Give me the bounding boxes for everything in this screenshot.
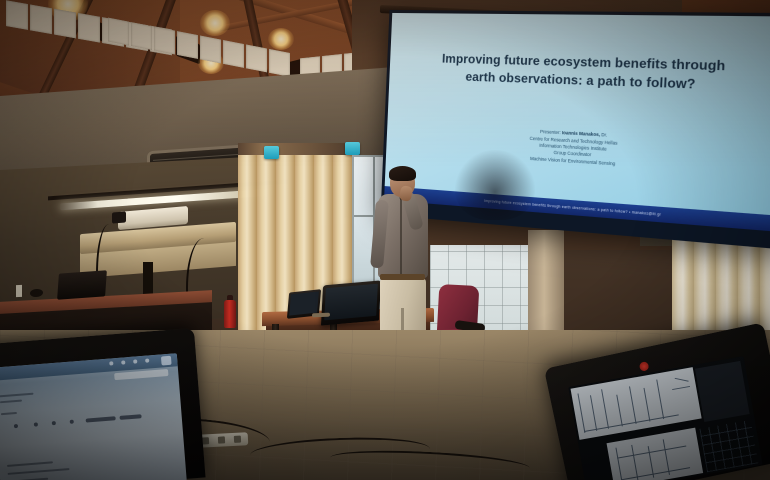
audience-laptop-left-screen[interactable] (0, 353, 187, 480)
laptop-left-content-dots (8, 412, 168, 428)
desk-item (312, 313, 330, 318)
projector-lens-icon (112, 211, 126, 223)
ceiling-lamp (268, 28, 294, 50)
curtain-clip (264, 146, 279, 159)
laptop-center-small-screen (289, 291, 319, 315)
slide-presenter-prefix: Presenter: (540, 129, 561, 135)
fire-extinguisher (224, 300, 236, 328)
presenter-hair (389, 166, 416, 181)
laptop-center-main-screen (324, 284, 378, 321)
slide-presenter-name: Ioannis Manakos, (562, 130, 600, 137)
audience-laptop-right-screen[interactable] (568, 356, 762, 480)
cup (16, 285, 22, 297)
laptop-left-tab (114, 369, 168, 380)
ceiling-lamp (200, 10, 230, 36)
presenter-shadow-on-screen (455, 150, 535, 220)
cad-side-panel[interactable] (695, 361, 750, 422)
projected-slide: Improving future ecosystem benefits thro… (384, 13, 770, 232)
curtain-rail-left (238, 143, 360, 155)
photograph-canvas: Improving future ecosystem benefits thro… (0, 0, 770, 480)
presenter-belt (380, 274, 425, 280)
slide-presenter-suffix: Dr. (601, 132, 607, 138)
laptop-right-indicator-icon (639, 361, 650, 372)
laptop-on-left-desk (57, 270, 107, 299)
audience-laptop-left[interactable] (0, 328, 206, 480)
presenter-jacket-zip (400, 198, 402, 274)
curtain-clip (345, 142, 360, 155)
cad-grid-panel[interactable] (699, 420, 758, 472)
cad-viewport-bottom[interactable] (607, 428, 704, 480)
projection-screen: Improving future ecosystem benefits thro… (381, 10, 770, 250)
slide-title: Improving future ecosystem benefits thro… (414, 51, 760, 97)
